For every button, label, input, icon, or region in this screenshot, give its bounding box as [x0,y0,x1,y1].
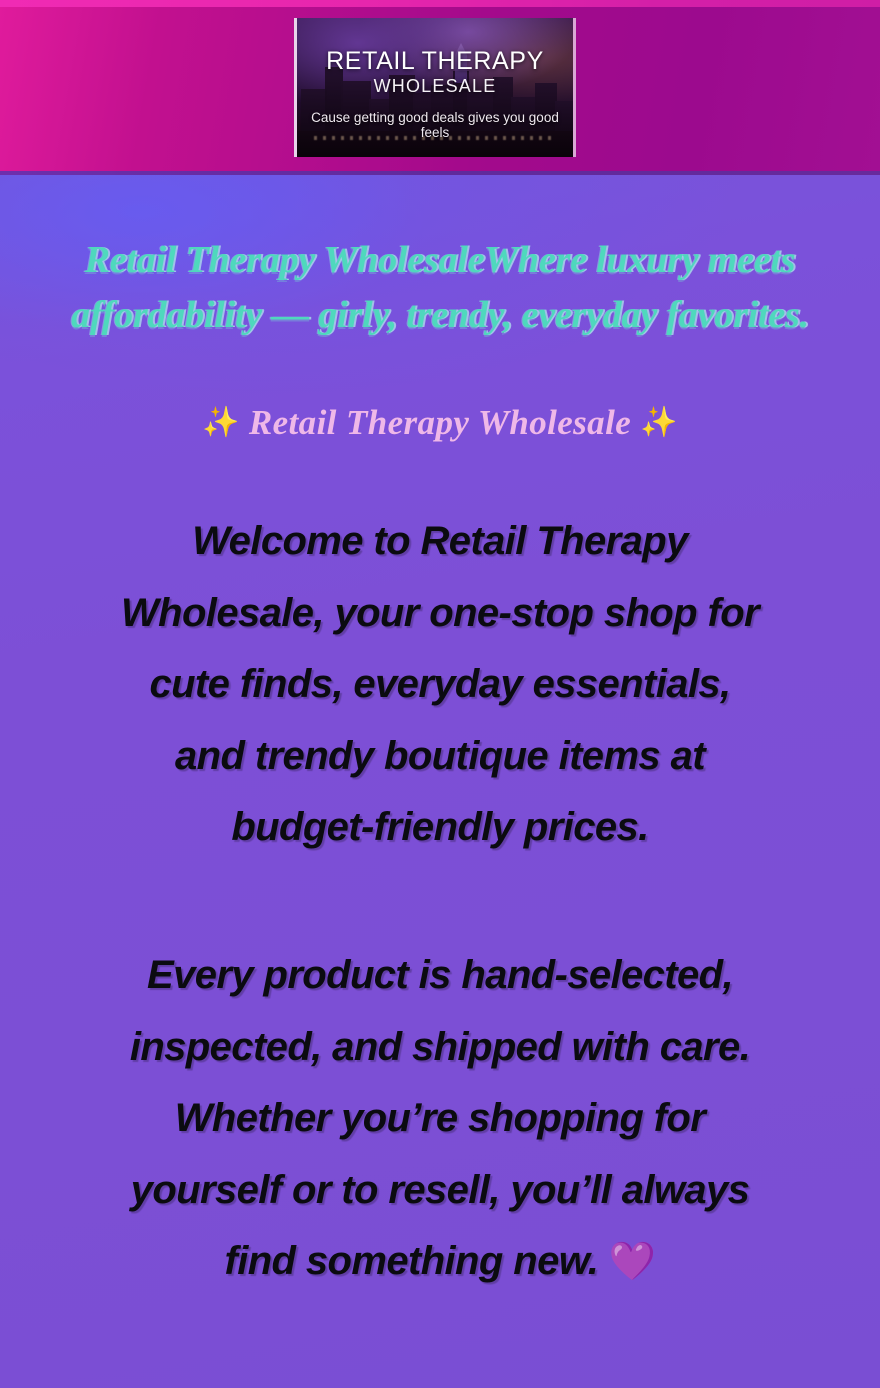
purple-heart-icon: 💜 [609,1241,656,1283]
brand-logo-text-block: RETAIL THERAPY WHOLESALE Cause getting g… [297,48,573,140]
brand-name-text: Retail Therapy Wholesale [249,403,631,442]
sparkles-right-icon: ✨ [640,406,678,439]
header-top-accent-strip [0,0,880,7]
brand-subtitle: WHOLESALE [297,76,573,97]
content-wrapper: Retail Therapy WholesaleWhere luxury mee… [0,233,880,1298]
sparkles-left-icon: ✨ [202,406,240,439]
brand-title: RETAIL THERAPY [297,48,573,74]
main-content-area: Retail Therapy WholesaleWhere luxury mee… [0,175,880,1388]
brand-tagline: Cause getting good deals gives you good … [297,110,573,140]
brand-name-decorated-heading: ✨ Retail Therapy Wholesale ✨ [58,400,822,446]
quality-paragraph: Every product is hand-selected, inspecte… [58,940,822,1298]
site-header-banner: RETAIL THERAPY WHOLESALE Cause getting g… [0,0,880,175]
store-tagline-heading: Retail Therapy WholesaleWhere luxury mee… [58,233,822,342]
quality-paragraph-text: Every product is hand-selected, inspecte… [130,953,750,1283]
page-root: RETAIL THERAPY WHOLESALE Cause getting g… [0,0,880,1388]
brand-logo-card[interactable]: RETAIL THERAPY WHOLESALE Cause getting g… [294,18,576,157]
welcome-paragraph: Welcome to Retail Therapy Wholesale, you… [58,506,822,864]
